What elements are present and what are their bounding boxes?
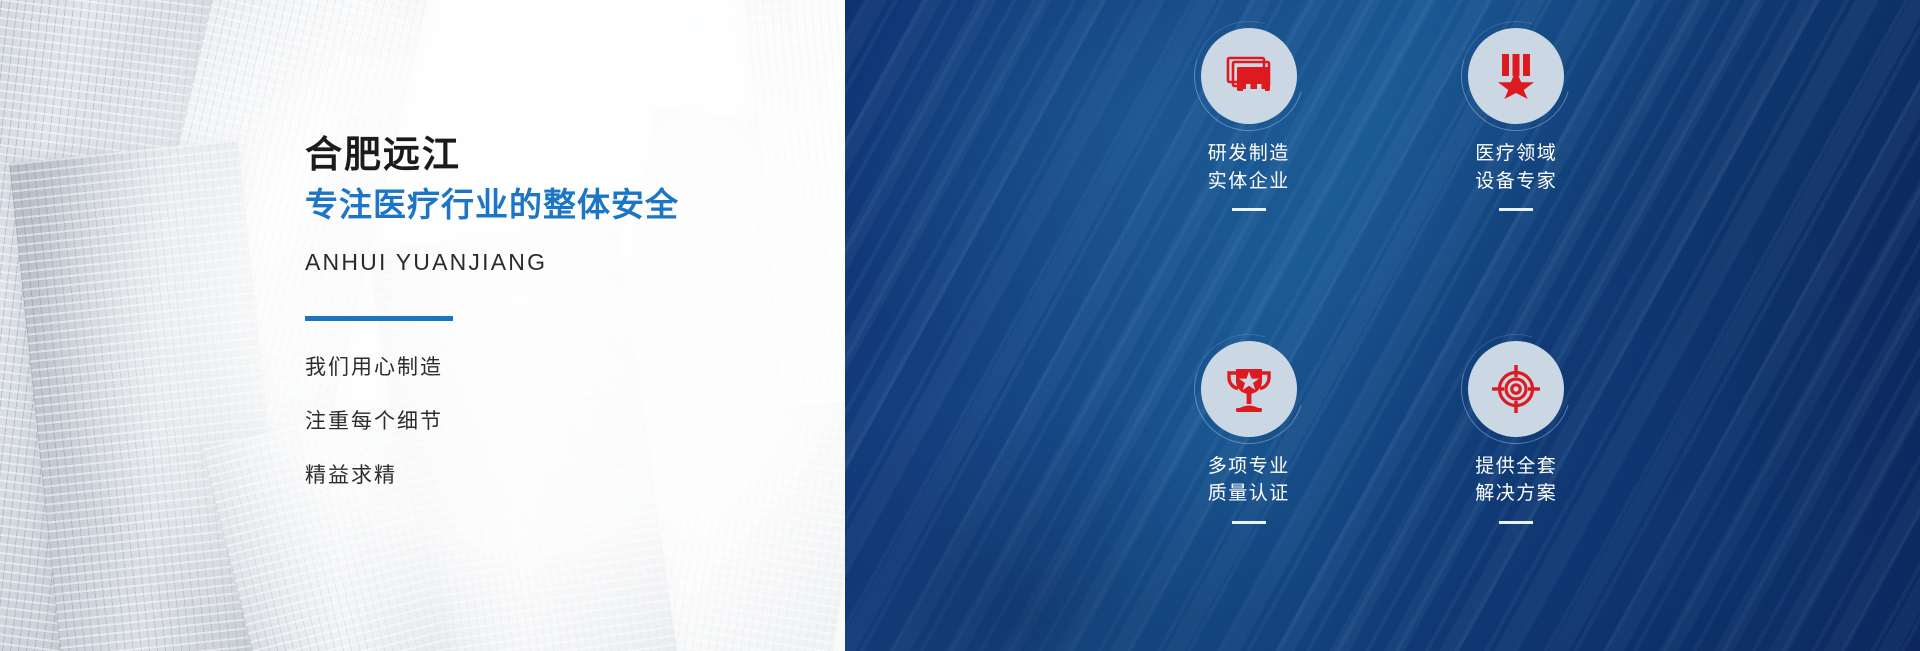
feature-label: 研发制造 实体企业 [1208, 140, 1290, 195]
feature-label-line1: 多项专业 [1208, 453, 1290, 481]
feature-item-medical-expert[interactable]: 医疗领域 设备专家 [1383, 28, 1651, 333]
feature-underline [1499, 208, 1533, 211]
accent-divider [305, 316, 453, 321]
feature-grid: 研发制造 实体企业 [845, 0, 1920, 651]
feature-label: 医疗领域 设备专家 [1475, 140, 1557, 195]
feature-underline [1232, 208, 1266, 211]
right-panel: 研发制造 实体企业 [845, 0, 1920, 651]
icon-circle-wrapper [1468, 28, 1564, 124]
decorative-ring [1174, 314, 1323, 463]
feature-item-research-manufacturing[interactable]: 研发制造 实体企业 [1115, 28, 1383, 333]
feature-label-line1: 提供全套 [1475, 453, 1557, 481]
feature-label-line2: 质量认证 [1208, 480, 1290, 508]
icon-circle-wrapper [1201, 28, 1297, 124]
feature-underline [1499, 521, 1533, 524]
left-content: 合肥远江 专注医疗行业的整体安全 ANHUI YUANJIANG 我们用心制造 … [305, 132, 785, 519]
decorative-ring [1442, 314, 1591, 463]
feature-item-quality-certification[interactable]: 多项专业 质量认证 [1115, 333, 1383, 638]
feature-item-full-solution[interactable]: 提供全套 解决方案 [1383, 333, 1651, 638]
slogan-line: 注重每个细节 [305, 411, 785, 432]
feature-label-line1: 医疗领域 [1475, 140, 1557, 168]
slogan-line: 精益求精 [305, 465, 785, 486]
icon-circle-wrapper [1201, 341, 1297, 437]
left-panel: 合肥远江 专注医疗行业的整体安全 ANHUI YUANJIANG 我们用心制造 … [0, 0, 845, 651]
feature-label-line2: 设备专家 [1475, 168, 1557, 196]
feature-label-line2: 实体企业 [1208, 168, 1290, 196]
feature-label: 提供全套 解决方案 [1475, 453, 1557, 508]
feature-label: 多项专业 质量认证 [1208, 453, 1290, 508]
feature-label-line2: 解决方案 [1475, 480, 1557, 508]
feature-underline [1232, 521, 1266, 524]
company-title: 合肥远江 [305, 132, 785, 178]
company-title-en: ANHUI YUANJIANG [305, 249, 785, 276]
decorative-ring [1442, 2, 1591, 151]
icon-circle-wrapper [1468, 341, 1564, 437]
feature-label-line1: 研发制造 [1208, 140, 1290, 168]
decorative-ring [1174, 2, 1323, 151]
slogan-line: 我们用心制造 [305, 357, 785, 378]
slogan-list: 我们用心制造 注重每个细节 精益求精 [305, 357, 785, 486]
company-tagline: 专注医疗行业的整体安全 [305, 184, 785, 227]
hero-banner: 合肥远江 专注医疗行业的整体安全 ANHUI YUANJIANG 我们用心制造 … [0, 0, 1920, 651]
